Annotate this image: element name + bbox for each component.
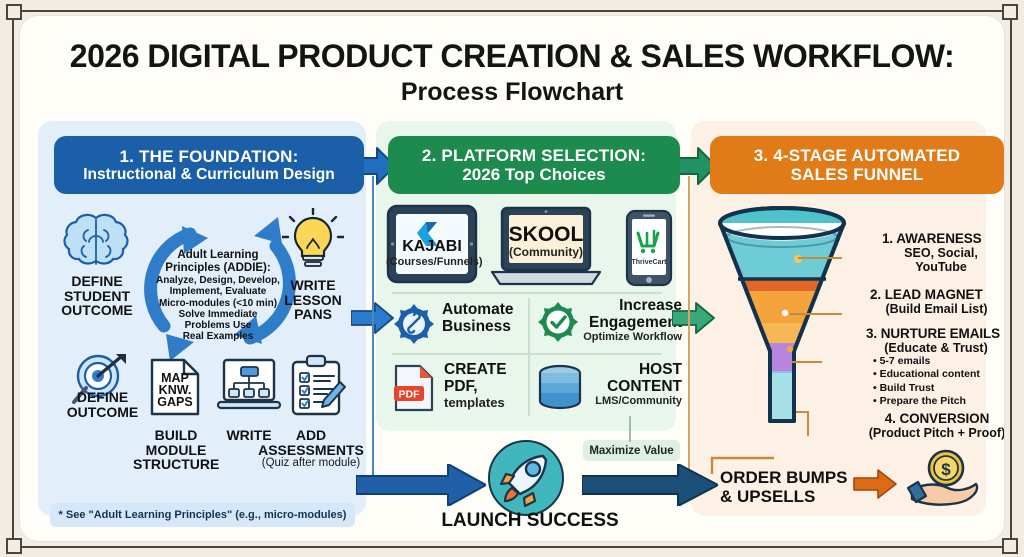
- sitemap-laptop-icon: [216, 358, 282, 418]
- rocket-icon: [485, 440, 567, 516]
- funnel-stage-2: 2. LEAD MAGNET (Build Email List): [870, 287, 1003, 316]
- page-subtitle: Process Flowchart: [20, 78, 1004, 107]
- connector-arrow-p2-p3-mid: [672, 301, 716, 335]
- p1-item-label-define-outcome: DEFINE OUTCOME: [50, 390, 155, 419]
- p1-item-label-add-assessments: ADD ASSESSMENTS (Quiz after module): [252, 428, 370, 469]
- database-icon: [536, 364, 584, 412]
- corner-square-tr: [1002, 4, 1018, 20]
- frame-top: [14, 10, 1010, 12]
- panel2-header: 2. PLATFORM SELECTION: 2026 Top Choices: [388, 136, 680, 194]
- panel2-divider-h2: [392, 353, 662, 355]
- platform-label-kajabi: KAJABI (Courses/Funnels): [386, 238, 478, 268]
- connector-rail-p1: [372, 176, 374, 476]
- frame-bottom: [14, 546, 1010, 548]
- maximize-value-badge: Maximize Value: [583, 440, 680, 461]
- quadrant-increase-engagement: Increase Engagement Optimize Workflow: [582, 298, 682, 343]
- panel1-footnote: * See "Adult Learning Principles" (e.g.,…: [50, 503, 355, 527]
- gear-check-icon: [536, 300, 580, 344]
- arrow-right-icon: [852, 468, 898, 500]
- platform-label-skool: SKOOL (Community): [496, 223, 596, 259]
- svg-text:$: $: [941, 460, 951, 479]
- quadrant-create-pdf: CREATE PDF, templates: [444, 362, 530, 410]
- poster-card: 2026 DIGITAL PRODUCT CREATION & SALES WO…: [20, 16, 1004, 541]
- quadrant-host-content: HOST CONTENT LMS/Community: [586, 362, 682, 407]
- panel1-header: 1. THE FOUNDATION: Instructional & Curri…: [54, 136, 364, 194]
- hand-coin-icon: $: [906, 448, 980, 512]
- frame-left: [12, 10, 14, 548]
- svg-text:PDF: PDF: [399, 389, 421, 401]
- page-title: 2026 DIGITAL PRODUCT CREATION & SALES WO…: [20, 38, 1004, 75]
- addie-center-text: Adult Learning Principles (ADDIE): Analy…: [153, 249, 283, 343]
- clipboard-check-icon: [288, 354, 346, 418]
- quadrant-automate-business: Automate Business: [442, 302, 524, 335]
- panel3-header: 3. 4-STAGE AUTOMATED SALES FUNNEL: [710, 136, 1004, 194]
- funnel-stage-3: 3. NURTURE EMAILS (Educate & Trust) • 5-…: [866, 326, 1004, 409]
- funnel-stage-3-bullets: • 5-7 emails • Educational content • Bui…: [866, 355, 1004, 409]
- connector-arrow-to-order-bumps: [582, 464, 718, 506]
- document-icon: MAP KNW. GAPS: [148, 356, 202, 418]
- lightbulb-icon: [282, 208, 344, 274]
- maximize-connector-line: [620, 416, 640, 442]
- launch-success-label: LAUNCH SUCCESS: [440, 510, 620, 532]
- funnel-stage-1: 1. AWARENESS SEO, Social, YouTube: [882, 231, 1000, 274]
- infographic-root: 2026 DIGITAL PRODUCT CREATION & SALES WO…: [0, 0, 1024, 557]
- brain-icon: [60, 212, 132, 274]
- document-inner-line3: GAPS: [157, 395, 192, 409]
- pdf-icon: PDF: [392, 364, 436, 412]
- platform-label-thrivecart: ThriveCart: [631, 259, 667, 266]
- corner-square-tl: [6, 4, 22, 20]
- connector-rail-p2: [688, 176, 690, 476]
- panel2-divider-h1: [392, 292, 662, 294]
- gear-link-icon: [392, 302, 436, 346]
- p1-item-label-build-module-structure: BUILD MODULE STRUCTURE: [133, 428, 219, 472]
- order-bumps-label: ORDER BUMPS & UPSELLS: [720, 468, 850, 506]
- frame-right: [1010, 10, 1012, 548]
- connector-arrow-to-launch: [356, 464, 486, 506]
- funnel-stage-4: 4. CONVERSION (Product Pitch + Proof): [868, 411, 1004, 440]
- corner-square-br: [1002, 538, 1018, 554]
- corner-square-bl: [6, 538, 22, 554]
- phone-icon: ThriveCart: [625, 209, 673, 287]
- p1-item-label-write-lesson-plans: WRITE LESSON PANS: [278, 278, 348, 322]
